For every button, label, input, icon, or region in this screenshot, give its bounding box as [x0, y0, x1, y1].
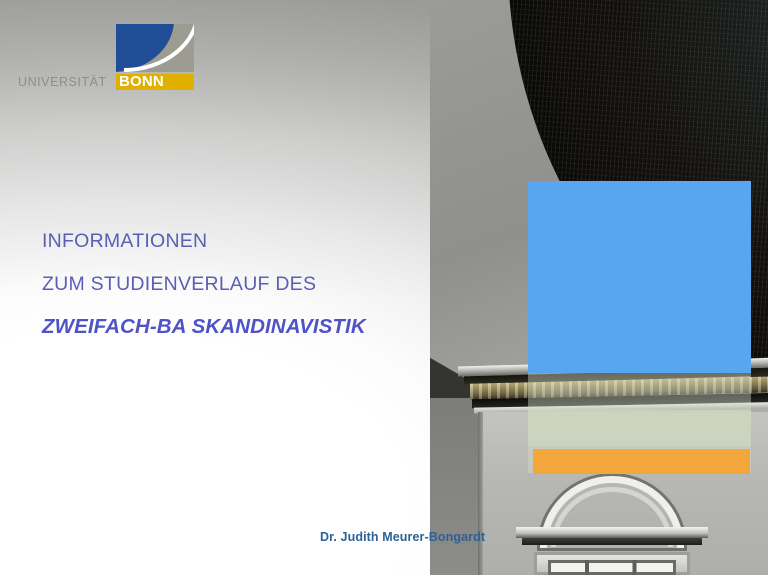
title-line-3-emphasis: ZWEIFACH-BA SKANDINAVISTIK: [42, 314, 482, 340]
logo-wordmark-bonn: BONN: [119, 74, 164, 90]
logo-white-swoosh: [124, 24, 194, 72]
blue-sky-overlay: [528, 181, 751, 373]
title-line-2: ZUM STUDIENVERLAUF DES: [42, 271, 482, 297]
photo-window-pediment-shelf: [516, 527, 708, 538]
title-line-1: INFORMATIONEN: [42, 228, 482, 254]
presentation-slide: UNIVERSITÄT BONN INFORMATIONEN ZUM STUDI…: [0, 0, 768, 575]
logo-wordmark-universitaet: UNIVERSITÄT: [18, 74, 107, 90]
photo-facade-corner: [478, 412, 483, 575]
university-of-bonn-logo: UNIVERSITÄT BONN: [18, 24, 194, 90]
green-band-overlay: [528, 410, 751, 446]
slide-title-block: INFORMATIONEN ZUM STUDIENVERLAUF DES ZWE…: [42, 228, 482, 340]
photo-window-mullions: [548, 560, 676, 575]
photo-window-pediment-shadow: [522, 538, 702, 545]
logo-mark-icon: [116, 24, 194, 72]
orange-band-overlay: [533, 449, 750, 474]
author-name: Dr. Judith Meurer-Bongardt: [320, 530, 485, 544]
